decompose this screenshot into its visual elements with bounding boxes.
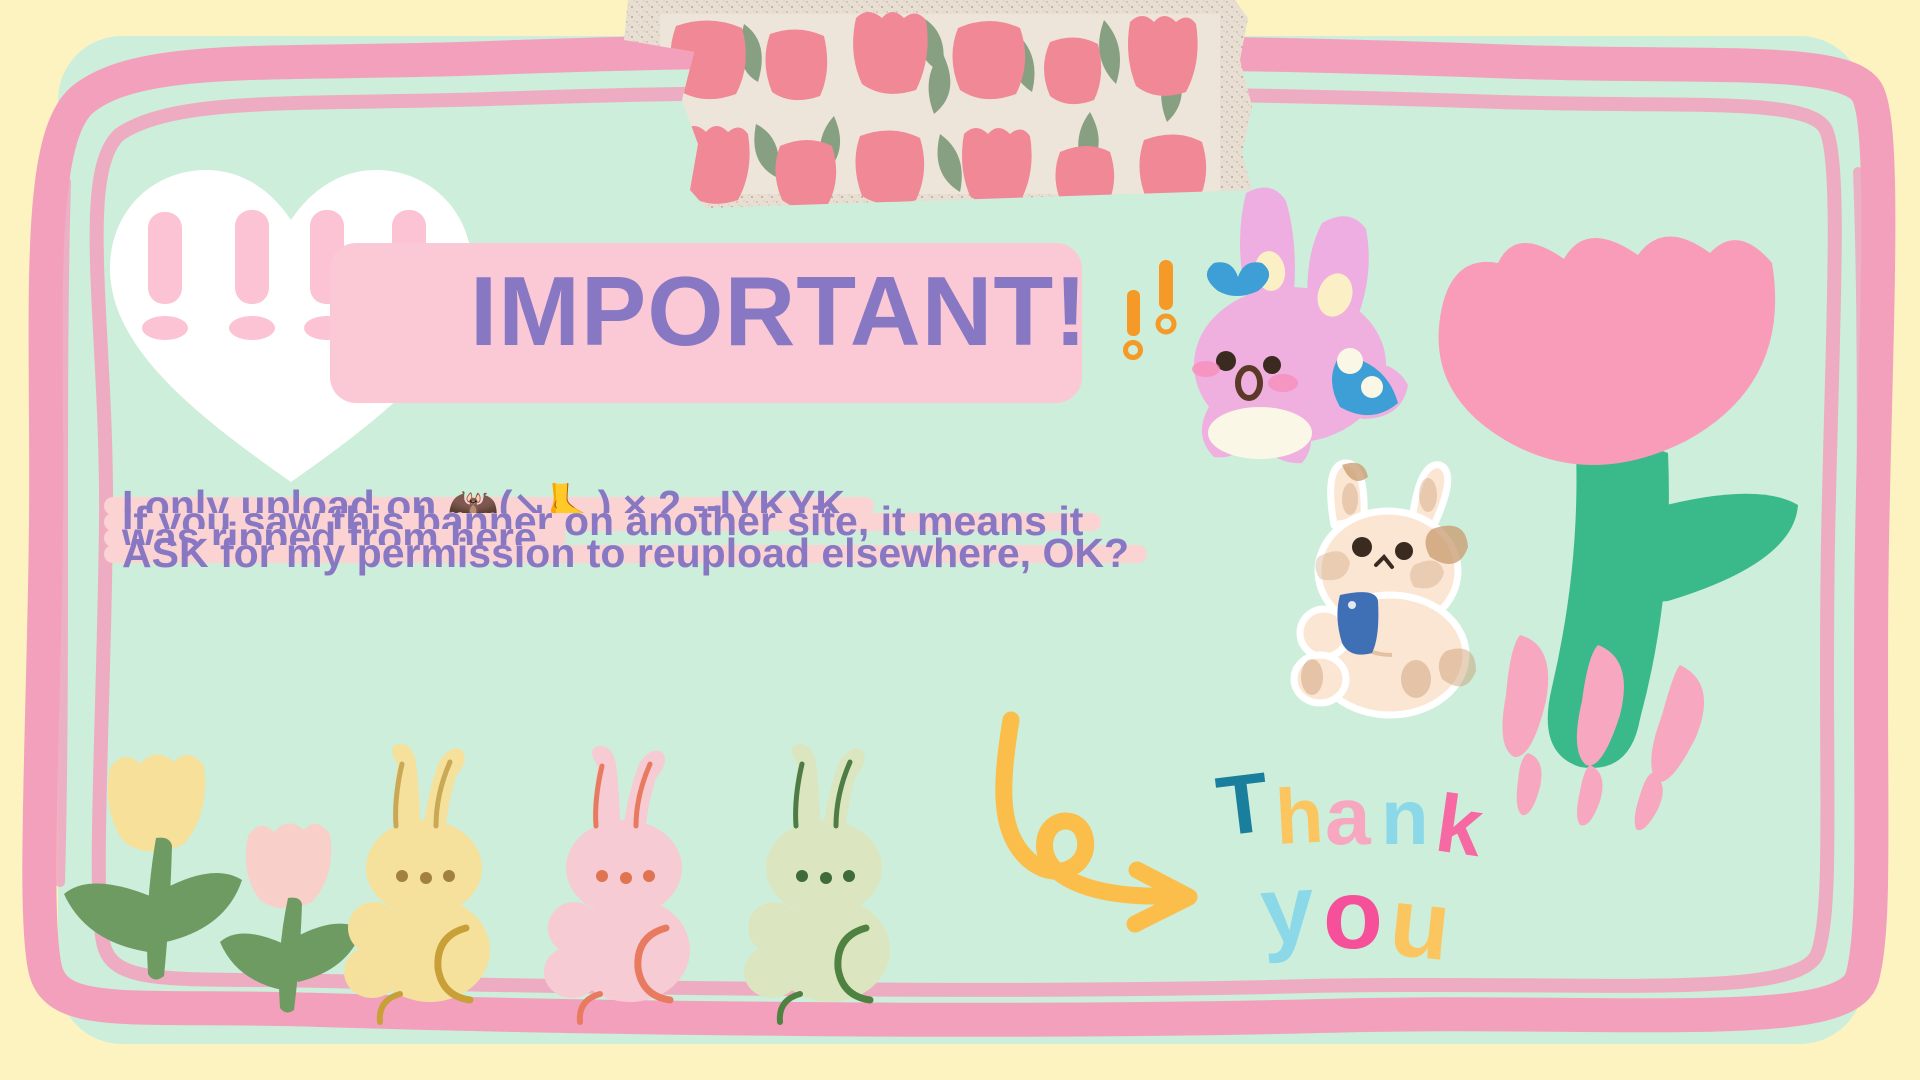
- thankyou-letter: u: [1385, 865, 1456, 981]
- banner-canvas: IMPORTANT! I only upload on 🦇(↘🦶) × 2 --…: [0, 0, 1920, 1080]
- thankyou-letter: T: [1212, 754, 1274, 854]
- thankyou-letter: o: [1323, 859, 1383, 969]
- cookie-bunny-green: [744, 744, 890, 1022]
- flying-bunny-icon: [1150, 175, 1450, 465]
- page-title: IMPORTANT!: [470, 262, 1088, 360]
- notice-line: ASK for my permission to reupload elsewh…: [104, 545, 1224, 563]
- notice-line-4: ASK for my permission to reupload elsewh…: [104, 545, 1147, 563]
- small-tulip-pink: [220, 823, 362, 1012]
- small-tulip-yellow: [64, 754, 242, 979]
- thankyou-letter: h: [1273, 771, 1325, 861]
- cookie-bunny-yellow: [344, 744, 490, 1022]
- thankyou-letter: n: [1381, 773, 1429, 861]
- phone-icon: [1337, 592, 1378, 655]
- bottom-decor-row: [0, 740, 1000, 1040]
- thankyou-letter: k: [1430, 778, 1488, 875]
- thankyou-letter: y: [1257, 854, 1318, 964]
- thank-you-lettering: T h a n k y o u: [1215, 758, 1525, 968]
- thankyou-letter: a: [1325, 771, 1372, 862]
- notice-text-block: I only upload on 🦇(↘🦶) × 2 --IYKYK. If y…: [104, 497, 1224, 561]
- cookie-bunny-pink: [544, 746, 690, 1022]
